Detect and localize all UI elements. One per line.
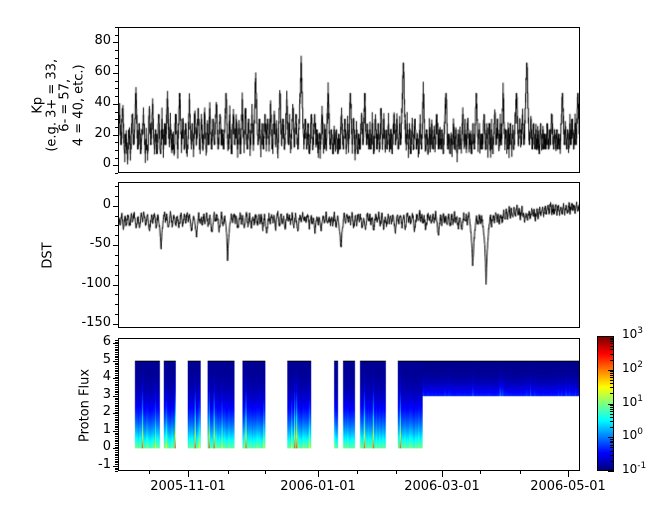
flux-minor-tick xyxy=(115,392,118,393)
x-minor-tickmark xyxy=(228,471,229,474)
kp-minor-tick xyxy=(115,119,118,120)
x-minor-tickmark xyxy=(265,471,266,474)
flux-minor-tick xyxy=(115,403,118,404)
colorbar-minor-tickmark xyxy=(610,414,614,415)
flux-minor-tick xyxy=(115,340,118,341)
colorbar-minor-tickmark xyxy=(610,371,614,372)
kp-minor-tick xyxy=(115,65,118,66)
kp-minor-tick xyxy=(115,104,118,105)
flux-minor-tick xyxy=(115,452,118,453)
colorbar-minor-tickmark xyxy=(610,346,614,347)
dst-axis-label: DST xyxy=(41,226,56,286)
flux-minor-tick xyxy=(115,466,118,467)
flux-minor-tick xyxy=(115,471,118,472)
colorbar-minor-tickmark xyxy=(610,377,614,378)
flux-minor-tick xyxy=(115,461,118,462)
kp-minor-tick xyxy=(115,135,118,136)
colorbar-minor-tickmark xyxy=(610,407,614,408)
kp-axis-label-line-3: 6- = 57, xyxy=(59,30,73,180)
flux-minor-tick xyxy=(115,424,118,425)
dst-minor-tick xyxy=(115,186,118,187)
flux-minor-tick xyxy=(115,447,118,448)
flux-minor-tick xyxy=(115,408,118,409)
dst-minor-tick xyxy=(115,314,118,315)
proton-flux-heatmap-canvas xyxy=(119,339,579,470)
flux-minor-tick xyxy=(115,436,118,437)
colorbar-minor-tickmark xyxy=(610,338,614,339)
flux-ytick-5: 5 xyxy=(93,352,111,367)
colorbar-minor-tickmark xyxy=(610,439,614,440)
dst-minor-tick xyxy=(115,235,118,236)
dst-minor-tick xyxy=(115,216,118,217)
dst-minor-tick xyxy=(115,294,118,295)
flux-minor-tick xyxy=(115,434,118,435)
colorbar-minor-tickmark xyxy=(610,421,614,422)
kp-ytick-80: 80 xyxy=(85,33,111,48)
flux-minor-tick xyxy=(115,342,118,343)
colorbar-minor-tickmark xyxy=(610,373,614,374)
flux-minor-tick xyxy=(115,469,118,470)
kp-minor-tick xyxy=(115,73,118,74)
flux-minor-tick xyxy=(115,398,118,399)
flux-minor-tick xyxy=(115,440,118,441)
colorbar-minor-tickmark xyxy=(610,383,614,384)
colorbar-minor-tickmark xyxy=(610,427,614,428)
flux-minor-tick xyxy=(115,366,118,367)
kp-axis-label: Kp (e.g. 3+ = 33, 6- = 57, 4 = 40, etc.) xyxy=(32,30,87,180)
kp-minor-tick xyxy=(115,127,118,128)
flux-minor-tick xyxy=(115,345,118,346)
flux-minor-tick xyxy=(115,459,118,460)
kp-ytick-20: 20 xyxy=(85,126,111,141)
flux-minor-tick xyxy=(115,405,118,406)
kp-minor-tick xyxy=(115,58,118,59)
flux-minor-tick xyxy=(115,356,118,357)
flux-minor-tick xyxy=(115,462,118,463)
flux-minor-tick xyxy=(115,347,118,348)
colorbar-minor-tickmark xyxy=(610,441,614,442)
colorbar-minor-tickmark xyxy=(610,405,614,406)
colorbar-minor-tickmark xyxy=(610,360,614,361)
flux-minor-tick xyxy=(115,448,118,449)
colorbar-minor-tickmark xyxy=(610,417,614,418)
dst-minor-tick xyxy=(115,275,118,276)
kp-minor-tick xyxy=(115,158,118,159)
kp-minor-tick xyxy=(115,88,118,89)
proton-flux-plot-area xyxy=(118,338,580,471)
flux-minor-tick xyxy=(115,445,118,446)
flux-minor-tick xyxy=(115,378,118,379)
dst-minor-tick xyxy=(115,206,118,207)
flux-minor-tick xyxy=(115,371,118,372)
kp-plot-area xyxy=(118,27,580,173)
kp-minor-tick xyxy=(115,142,118,143)
figure-container: Kp (e.g. 3+ = 33, 6- = 57, 4 = 40, etc.)… xyxy=(0,0,665,523)
x-minor-tickmark xyxy=(149,471,150,474)
kp-minor-tick xyxy=(115,96,118,97)
colorbar-minor-tickmark xyxy=(610,442,614,443)
flux-minor-tick xyxy=(115,382,118,383)
kp-minor-tick xyxy=(115,35,118,36)
dst-minor-tick xyxy=(115,285,118,286)
colorbar-tick-10e0: 100 xyxy=(622,427,643,442)
flux-minor-tick xyxy=(115,396,118,397)
flux-minor-tick xyxy=(115,375,118,376)
dst-minor-tick xyxy=(115,304,118,305)
flux-minor-tick xyxy=(115,391,118,392)
colorbar-minor-tickmark xyxy=(610,339,614,340)
colorbar-minor-tickmark xyxy=(610,343,614,344)
flux-minor-tick xyxy=(115,438,118,439)
colorbar-minor-tickmark xyxy=(610,375,614,376)
flux-minor-tick xyxy=(115,385,118,386)
flux-minor-tick xyxy=(115,349,118,350)
kp-minor-tick xyxy=(115,81,118,82)
dst-minor-tick xyxy=(115,225,118,226)
flux-minor-tick xyxy=(115,427,118,428)
colorbar-minor-tickmark xyxy=(610,451,614,452)
flux-minor-tick xyxy=(115,419,118,420)
flux-minor-tick xyxy=(115,384,118,385)
x-minor-tickmark xyxy=(480,471,481,474)
flux-minor-tick xyxy=(115,368,118,369)
flux-minor-tick xyxy=(115,387,118,388)
kp-ytick-60: 60 xyxy=(85,64,111,79)
flux-minor-tick xyxy=(115,394,118,395)
kp-axis-label-line-1: Kp xyxy=(32,30,46,180)
flux-minor-tick xyxy=(115,413,118,414)
colorbar-tickmark xyxy=(608,471,614,472)
flux-minor-tick xyxy=(115,380,118,381)
flux-minor-tick xyxy=(115,399,118,400)
kp-ytick-0: 0 xyxy=(85,156,111,171)
dst-minor-tick xyxy=(115,196,118,197)
kp-minor-tick xyxy=(115,50,118,51)
flux-minor-tick xyxy=(115,429,118,430)
flux-ytick--1: -1 xyxy=(93,457,111,472)
flux-minor-tick xyxy=(115,443,118,444)
flux-minor-tick xyxy=(115,343,118,344)
flux-minor-tick xyxy=(115,422,118,423)
flux-minor-tick xyxy=(115,364,118,365)
flux-minor-tick xyxy=(115,464,118,465)
flux-ytick-0: 0 xyxy=(93,439,111,454)
flux-minor-tick xyxy=(115,389,118,390)
flux-minor-tick xyxy=(115,433,118,434)
kp-series-canvas xyxy=(119,28,579,172)
x-tickmark-2006-03-01 xyxy=(442,471,443,477)
kp-ytick-40: 40 xyxy=(85,95,111,110)
flux-minor-tick xyxy=(115,357,118,358)
flux-minor-tick xyxy=(115,354,118,355)
x-tick-2006-03-01: 2006-03-01 xyxy=(387,479,497,494)
dst-ytick--150: -150 xyxy=(77,315,111,330)
flux-minor-tick xyxy=(115,401,118,402)
dst-minor-tick xyxy=(115,265,118,266)
colorbar-minor-tickmark xyxy=(610,447,614,448)
x-tickmark-2005-11-01 xyxy=(188,471,189,477)
colorbar-minor-tickmark xyxy=(610,354,614,355)
flux-minor-tick xyxy=(115,441,118,442)
x-tick-2006-05-01: 2006-05-01 xyxy=(513,479,623,494)
dst-ytick-0: 0 xyxy=(77,197,111,212)
colorbar-minor-tickmark xyxy=(610,461,614,462)
x-tickmark-2006-01-01 xyxy=(318,471,319,477)
flux-minor-tick xyxy=(115,361,118,362)
kp-minor-tick xyxy=(115,42,118,43)
flux-minor-tick xyxy=(115,415,118,416)
colorbar-tick-10e1: 101 xyxy=(622,394,643,409)
colorbar-minor-tickmark xyxy=(610,455,614,456)
flux-minor-tick xyxy=(115,420,118,421)
x-tickmark-2006-05-01 xyxy=(568,471,569,477)
colorbar-minor-tickmark xyxy=(610,380,614,381)
kp-minor-tick xyxy=(115,165,118,166)
flux-minor-tick xyxy=(115,377,118,378)
x-minor-tickmark xyxy=(396,471,397,474)
flux-ytick-4: 4 xyxy=(93,369,111,384)
dst-minor-tick xyxy=(115,245,118,246)
kp-minor-tick xyxy=(115,27,118,28)
colorbar-minor-tickmark xyxy=(610,411,614,412)
kp-axis-label-line-2: (e.g. 3+ = 33, xyxy=(45,30,59,180)
kp-minor-tick xyxy=(115,150,118,151)
flux-ytick-6: 6 xyxy=(93,334,111,349)
flux-minor-tick xyxy=(115,454,118,455)
flux-minor-tick xyxy=(115,363,118,364)
colorbar-tick-10e2: 102 xyxy=(622,360,643,375)
colorbar-minor-tickmark xyxy=(610,445,614,446)
colorbar-minor-tickmark xyxy=(610,349,614,350)
flux-minor-tick xyxy=(115,373,118,374)
x-tick-2006-01-01: 2006-01-01 xyxy=(263,479,373,494)
colorbar-minor-tickmark xyxy=(610,393,614,394)
flux-minor-tick xyxy=(115,457,118,458)
x-minor-tickmark xyxy=(357,471,358,474)
flux-minor-tick xyxy=(115,410,118,411)
dst-minor-tick xyxy=(115,255,118,256)
proton-flux-axis-label: Proton Flux xyxy=(78,351,93,461)
colorbar-tick-10e-1: 10-1 xyxy=(622,461,646,476)
x-minor-tickmark xyxy=(520,471,521,474)
colorbar-minor-tickmark xyxy=(610,409,614,410)
dst-minor-tick xyxy=(115,324,118,325)
flux-minor-tick xyxy=(115,468,118,469)
flux-minor-tick xyxy=(115,350,118,351)
x-tick-2005-11-01: 2005-11-01 xyxy=(133,479,243,494)
flux-minor-tick xyxy=(115,426,118,427)
dst-plot-area xyxy=(118,182,580,328)
flux-minor-tick xyxy=(115,406,118,407)
flux-ytick-1: 1 xyxy=(93,422,111,437)
kp-minor-tick xyxy=(115,112,118,113)
dst-ytick--100: -100 xyxy=(77,276,111,291)
flux-minor-tick xyxy=(115,412,118,413)
colorbar-minor-tickmark xyxy=(610,341,614,342)
kp-minor-tick xyxy=(115,173,118,174)
colorbar-minor-tickmark xyxy=(610,387,614,388)
flux-minor-tick xyxy=(115,359,118,360)
flux-minor-tick xyxy=(115,455,118,456)
colorbar-tick-10e3: 103 xyxy=(622,326,643,341)
flux-minor-tick xyxy=(115,370,118,371)
dst-series-canvas xyxy=(119,183,579,327)
flux-minor-tick xyxy=(115,450,118,451)
flux-ytick-2: 2 xyxy=(93,404,111,419)
flux-minor-tick xyxy=(115,417,118,418)
flux-ytick-3: 3 xyxy=(93,387,111,402)
dst-ytick--50: -50 xyxy=(77,236,111,251)
flux-minor-tick xyxy=(115,352,118,353)
flux-minor-tick xyxy=(115,431,118,432)
